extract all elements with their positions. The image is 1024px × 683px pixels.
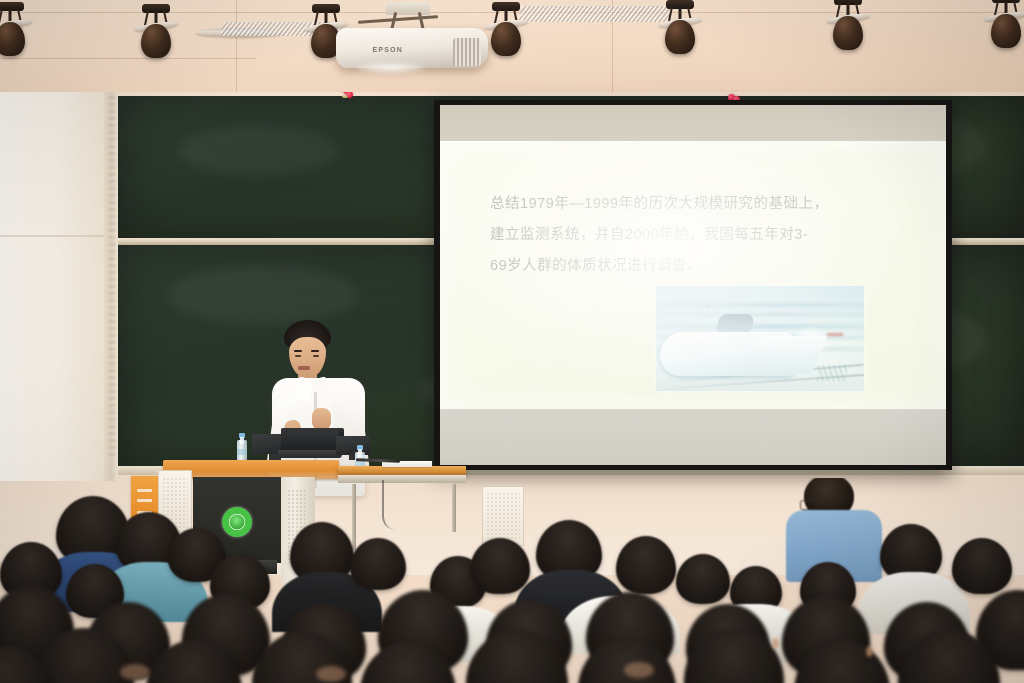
train-windshield xyxy=(716,314,756,332)
wall-pillar xyxy=(0,86,104,481)
audience-head xyxy=(616,536,676,594)
audience-nape xyxy=(316,666,346,682)
laptop xyxy=(281,428,339,458)
slide-body-text: 总结1979年—1999年的历次大规模研究的基础上， 建立监测系统，并自2000… xyxy=(490,189,890,282)
projection-screen-surface: 总结1979年—1999年的历次大规模研究的基础上， 建立监测系统，并自2000… xyxy=(440,105,946,465)
pendant-lamp xyxy=(828,0,868,46)
water-bottle xyxy=(237,433,247,463)
pendant-lamp xyxy=(136,4,176,62)
eyeglasses xyxy=(800,500,820,510)
presenter-mouth xyxy=(298,366,310,370)
side-table xyxy=(338,466,466,476)
projection-screen: 总结1979年—1999年的历次大规模研究的基础上， 建立监测系统，并自2000… xyxy=(434,100,952,470)
slide-text-line-3: 69岁人群的体质状况进行调查。 xyxy=(490,251,890,282)
pendant-lamp xyxy=(986,0,1024,42)
audience-head xyxy=(676,554,730,604)
pendant-lamp xyxy=(0,2,30,58)
audience-nape xyxy=(120,664,150,680)
ceiling-grille xyxy=(517,6,672,22)
pendant-lamp xyxy=(486,2,526,58)
projector: EPSON xyxy=(336,28,488,68)
projector-vent xyxy=(453,38,481,66)
audience xyxy=(0,478,1024,683)
audience-ear xyxy=(866,646,873,657)
lecture-hall-photo: EPSON 总结1979年—1999年的历次大规模研究的基础上， 建立监测系统，… xyxy=(0,0,1024,683)
wall-pillar-grain xyxy=(108,96,116,456)
screen-bottom-band xyxy=(440,409,946,465)
audience-ear xyxy=(772,638,779,649)
slide-text-line-2: 建立监测系统，并自2000年始，我国每五年对3- xyxy=(490,220,890,251)
presentation-slide: 总结1979年—1999年的历次大规模研究的基础上， 建立监测系统，并自2000… xyxy=(440,141,946,409)
projector-lens xyxy=(357,63,424,73)
projector-ceiling-mount xyxy=(386,2,430,15)
projector-brand-label: EPSON xyxy=(372,47,403,54)
presenter-hand-right xyxy=(312,408,331,430)
audience-head xyxy=(952,538,1012,594)
audience-nape xyxy=(624,662,654,678)
high-speed-train-photo xyxy=(656,286,864,391)
audience-head xyxy=(470,538,530,594)
wall-pillar-seam xyxy=(0,235,104,237)
pendant-lamp xyxy=(660,0,700,54)
screen-top-band xyxy=(440,105,946,141)
slide-text-line-1: 总结1979年—1999年的历次大规模研究的基础上， xyxy=(490,189,890,220)
audience-head xyxy=(350,538,406,590)
